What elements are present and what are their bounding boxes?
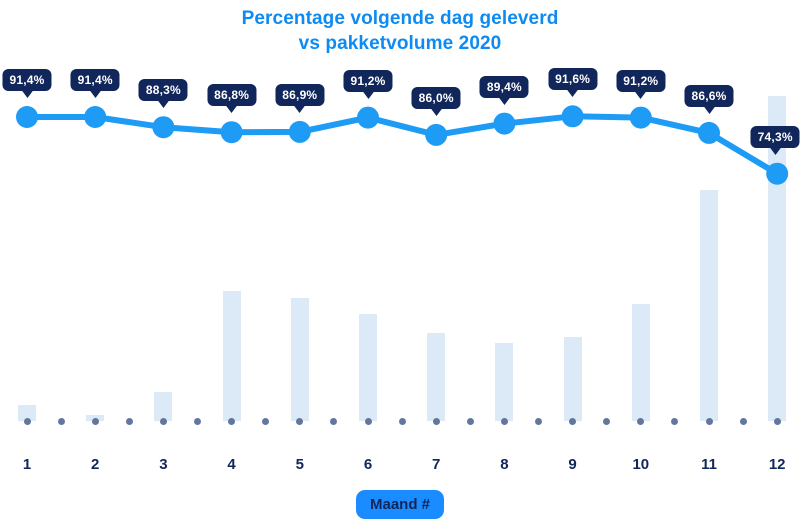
data-label: 86,0% [412,87,461,109]
x-axis-title-badge: Maand # [356,490,444,519]
plot-area: 91,4%91,4%88,3%86,8%86,9%91,2%86,0%89,4%… [0,0,800,450]
x-axis-title-wrap: Maand # [0,490,800,519]
data-label: 74,3% [751,126,800,148]
x-tick-label: 11 [701,456,717,473]
data-labels-group: 91,4%91,4%88,3%86,8%86,9%91,2%86,0%89,4%… [0,0,800,450]
data-label: 91,4% [2,69,51,91]
x-tick-label: 4 [227,456,235,473]
x-tick-label: 9 [568,456,576,473]
data-label: 91,2% [343,70,392,92]
x-tick-label: 7 [432,456,440,473]
x-tick-label: 2 [91,456,99,473]
x-axis-tick-labels: 123456789101112 [0,450,800,490]
data-label: 91,6% [548,68,597,90]
x-tick-label: 3 [159,456,167,473]
data-label: 86,8% [207,84,256,106]
x-tick-label: 12 [769,456,786,473]
x-tick-label: 6 [364,456,372,473]
x-tick-label: 1 [23,456,31,473]
x-tick-label: 5 [296,456,304,473]
x-tick-label: 10 [632,456,649,473]
data-label: 88,3% [139,79,188,101]
data-label: 91,2% [616,70,665,92]
data-label: 86,6% [684,85,733,107]
chart-root: Percentage volgende dag geleverd vs pakk… [0,0,800,532]
data-label: 91,4% [71,69,120,91]
data-label: 86,9% [275,84,324,106]
x-tick-label: 8 [500,456,508,473]
data-label: 89,4% [480,76,529,98]
